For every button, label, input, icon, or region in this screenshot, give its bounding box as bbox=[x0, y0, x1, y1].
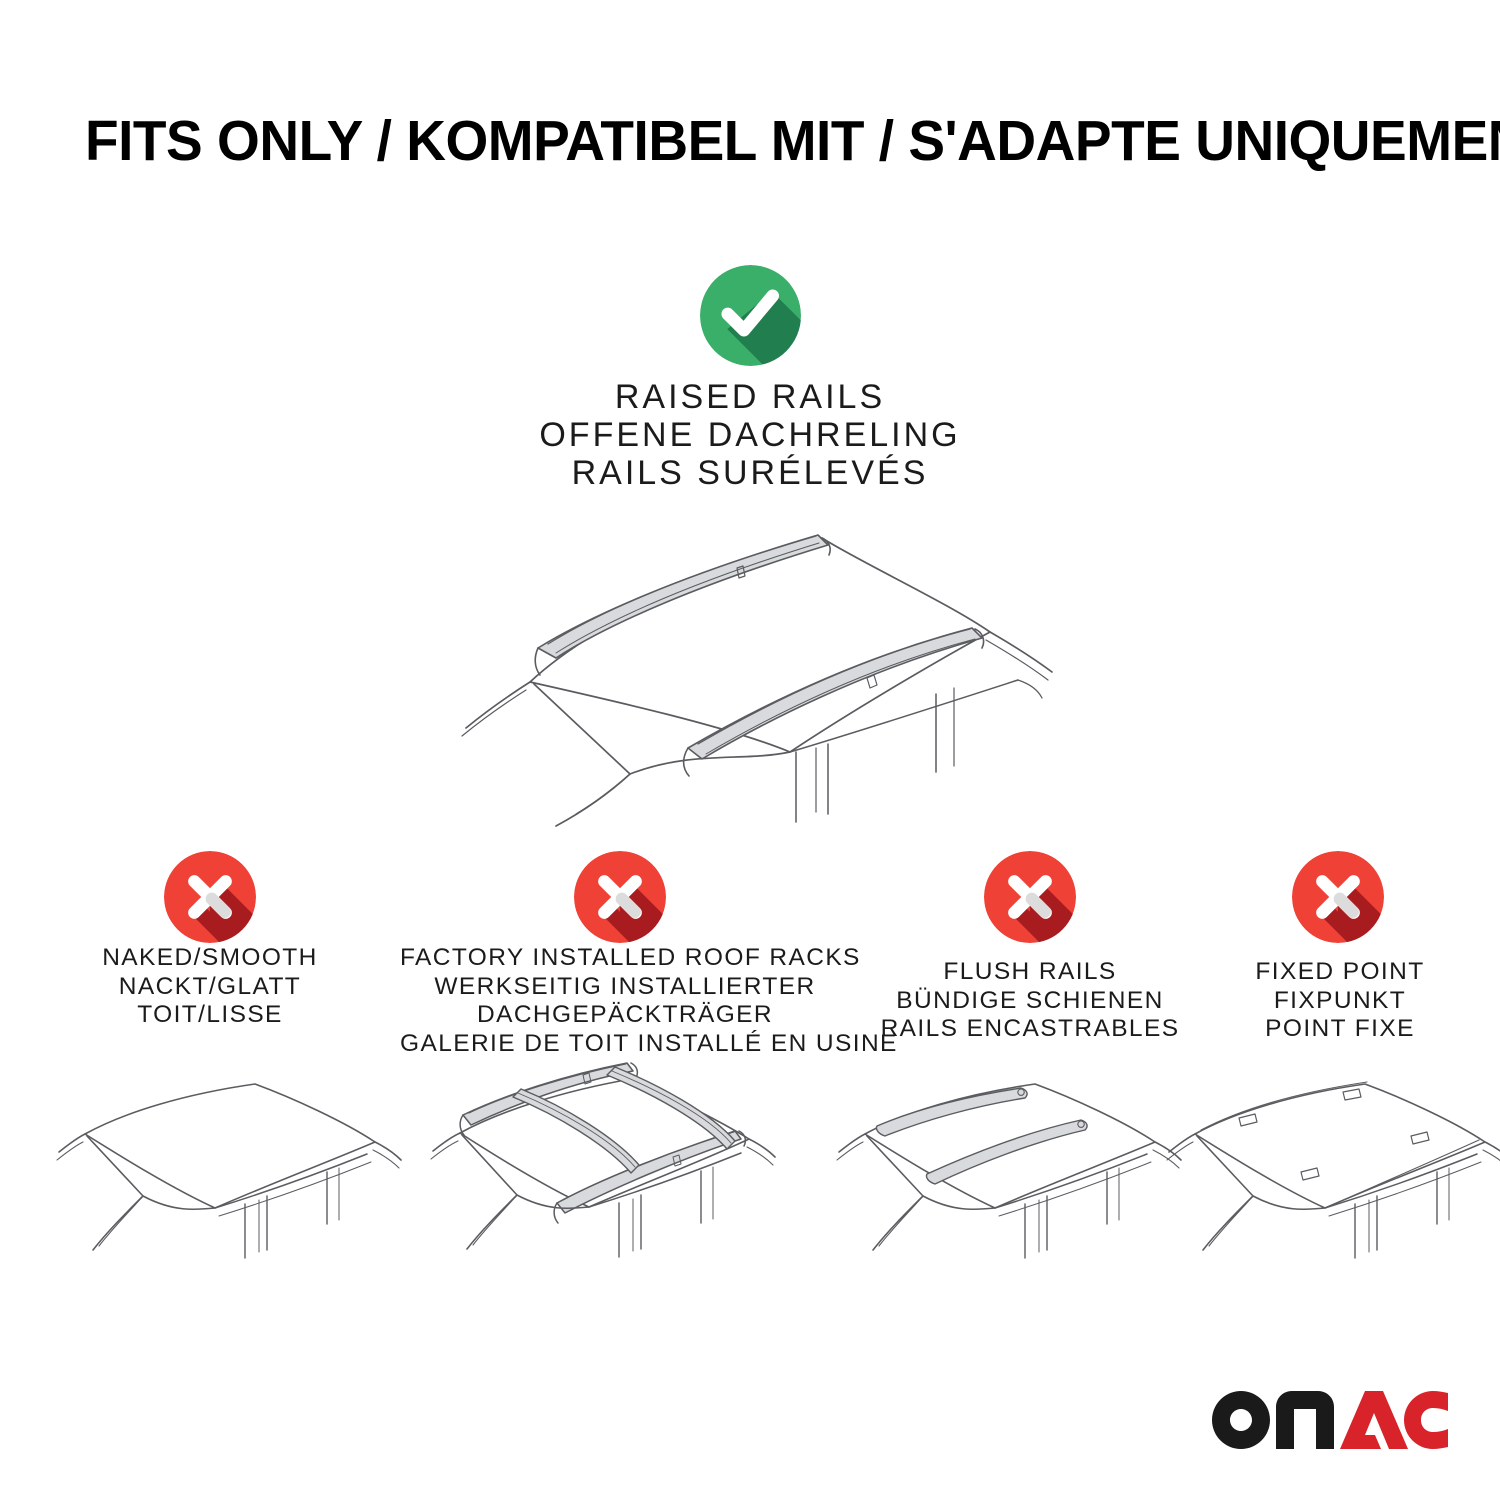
compatible-label: RAISED RAILS OFFENE DACHRELING RAILS SUR… bbox=[0, 378, 1500, 492]
check-circle-icon bbox=[700, 265, 801, 366]
label-line: WERKSEITIG INSTALLIERTER bbox=[400, 973, 850, 1002]
compatible-label-line-1: RAISED RAILS bbox=[0, 378, 1500, 416]
label-line: DACHGEPÄCKTRÄGER bbox=[400, 1001, 850, 1030]
x-circle-icon bbox=[164, 851, 256, 943]
compatible-label-line-3: RAILS SURÉLEVÉS bbox=[0, 454, 1500, 492]
label-line: NAKED/SMOOTH bbox=[55, 944, 365, 973]
car-roof-factory-rack-illustration bbox=[405, 1055, 785, 1280]
incompatible-label-flush-rails: FLUSH RAILS BÜNDIGE SCHIENEN RAILS ENCAS… bbox=[860, 958, 1200, 1044]
label-line: BÜNDIGE SCHIENEN bbox=[860, 987, 1200, 1016]
compatibility-infographic: FITS ONLY / KOMPATIBEL MIT / S'ADAPTE UN… bbox=[0, 0, 1500, 1500]
label-line: FIXED POINT bbox=[1205, 958, 1475, 987]
page-title: FITS ONLY / KOMPATIBEL MIT / S'ADAPTE UN… bbox=[85, 108, 1500, 174]
car-roof-fixed-point-illustration bbox=[1165, 1062, 1500, 1277]
label-line: FACTORY INSTALLED ROOF RACKS bbox=[400, 944, 850, 973]
car-roof-naked-illustration bbox=[55, 1062, 405, 1277]
label-line: RAILS ENCASTRABLES bbox=[860, 1015, 1200, 1044]
label-line: FLUSH RAILS bbox=[860, 958, 1200, 987]
incompatible-label-naked-smooth: NAKED/SMOOTH NACKT/GLATT TOIT/LISSE bbox=[55, 944, 365, 1030]
label-line: GALERIE DE TOIT INSTALLÉ EN USINE bbox=[400, 1030, 850, 1059]
incompatible-label-fixed-point: FIXED POINT FIXPUNKT POINT FIXE bbox=[1205, 958, 1475, 1044]
car-roof-flush-rails-illustration bbox=[835, 1062, 1185, 1277]
compatible-label-line-2: OFFENE DACHRELING bbox=[0, 416, 1500, 454]
x-circle-icon bbox=[1292, 851, 1384, 943]
label-line: POINT FIXE bbox=[1205, 1015, 1475, 1044]
x-circle-icon bbox=[984, 851, 1076, 943]
omac-logo-mark bbox=[1212, 1391, 1448, 1449]
car-roof-raised-rails-illustration bbox=[430, 512, 1090, 832]
incompatible-label-factory-installed-roof-racks: FACTORY INSTALLED ROOF RACKS WERKSEITIG … bbox=[400, 944, 850, 1058]
x-circle-icon bbox=[574, 851, 666, 943]
label-line: FIXPUNKT bbox=[1205, 987, 1475, 1016]
label-line: TOIT/LISSE bbox=[55, 1001, 365, 1030]
omac-logo bbox=[1212, 1392, 1448, 1448]
label-line: NACKT/GLATT bbox=[55, 973, 365, 1002]
